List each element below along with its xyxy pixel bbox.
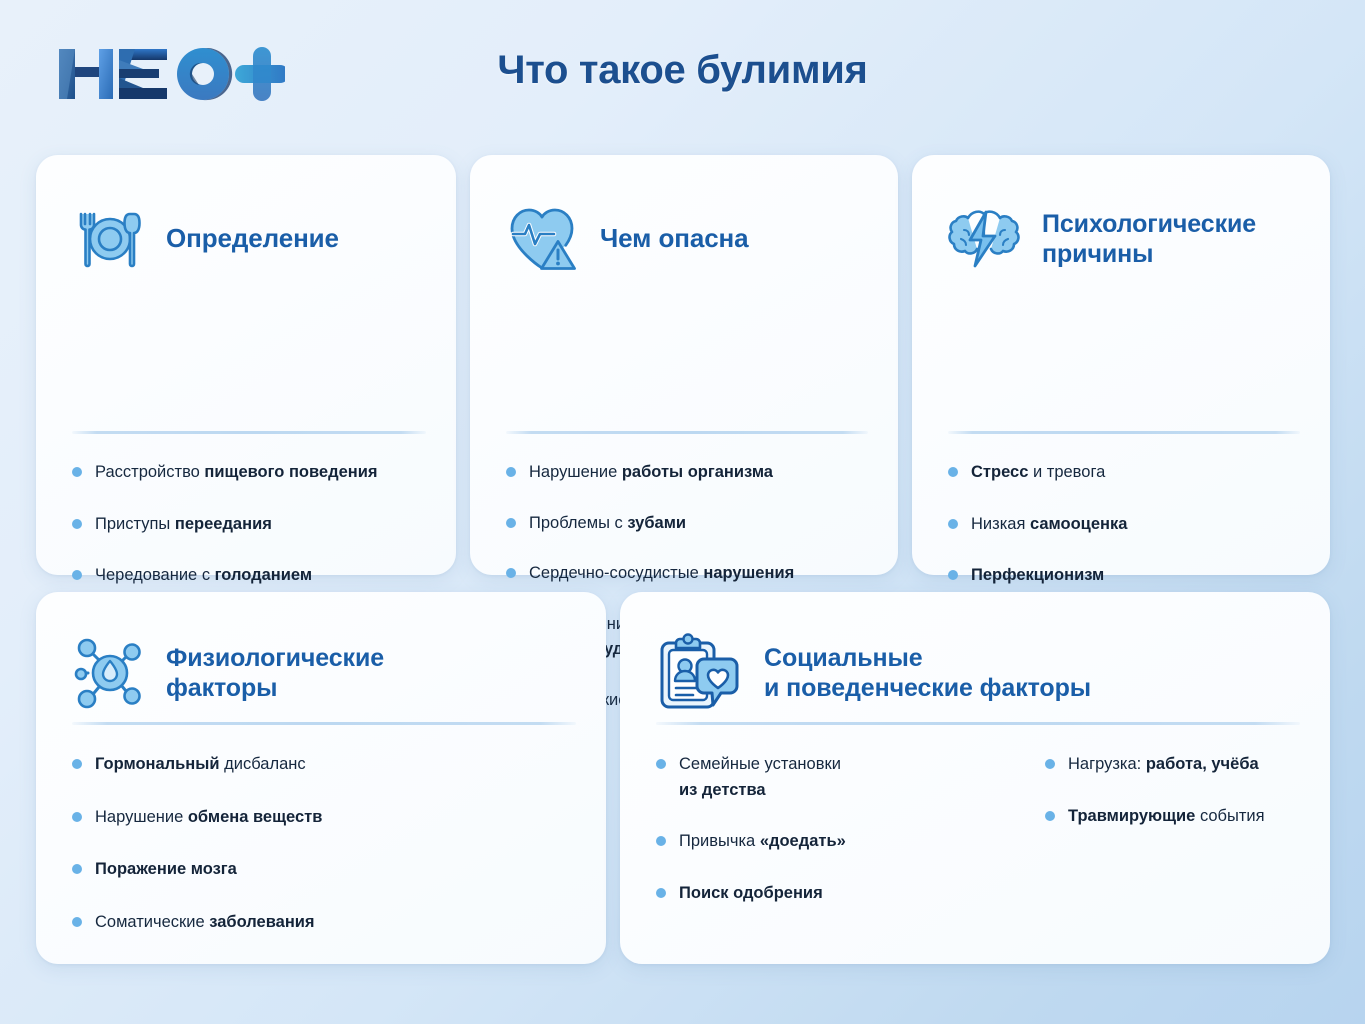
list-item: Гормональный дисбаланс [72, 752, 590, 778]
card-physiological-factors: Физиологическиефакторы Гормональный дисб… [36, 592, 606, 964]
list-item-text: Поиск одобрения [679, 881, 823, 907]
divider [72, 722, 576, 725]
brain-lightning-icon [948, 202, 1022, 276]
infographic-page: Что такое булимия Определение Расстройст… [0, 0, 1365, 1024]
bullet-dot [72, 812, 82, 822]
list-item: Соматические заболевания [72, 910, 590, 936]
list-item-text: Нарушение обмена веществ [95, 805, 322, 831]
bullet-dot [72, 917, 82, 927]
list-item-text: Травмирующие события [1068, 804, 1265, 830]
bullet-list: Гормональный дисбалансНарушение обмена в… [72, 752, 590, 962]
divider [656, 722, 1300, 725]
list-item-text: Расстройство пищевого поведения [95, 460, 378, 486]
card-title: Социальныеи поведенческие факторы [764, 643, 1091, 704]
bullet-dot [72, 467, 82, 477]
plate-fork-knife-icon [72, 202, 146, 276]
list-item-text: Поражение мозга [95, 857, 237, 883]
list-item-text: Низкая самооценка [971, 512, 1127, 538]
card-title: Чем опасна [600, 223, 749, 255]
bullet-dot [656, 888, 666, 898]
list-item-text: Семейные установкииз детства [679, 752, 841, 803]
list-item: Сердечно-сосудистые нарушения [506, 561, 882, 587]
list-item: Поражение мозга [72, 857, 590, 883]
card-title: Физиологическиефакторы [166, 643, 384, 704]
list-item-text: Гормональный дисбаланс [95, 752, 306, 778]
hormone-molecule-icon [72, 636, 146, 710]
list-item-text: Чередование с голоданием [95, 563, 312, 589]
list-item-text: Привычка «доедать» [679, 829, 846, 855]
bullet-dot [72, 759, 82, 769]
card-header: Физиологическиефакторы [72, 626, 578, 720]
list-item: Нарушение обмена веществ [72, 805, 590, 831]
card-title: Определение [166, 223, 339, 255]
list-item: Нарушение работы организма [506, 460, 882, 486]
bullet-dot [948, 467, 958, 477]
bullet-dot [948, 519, 958, 529]
list-item: Стресс и тревога [948, 460, 1314, 486]
list-item: Привычка «доедать» [656, 829, 1001, 855]
card-header: Социальныеи поведенческие факторы [656, 626, 1302, 720]
page-title: Что такое булимия [0, 48, 1365, 93]
divider [72, 431, 426, 434]
bullet-dot [656, 759, 666, 769]
bullet-dot [1045, 759, 1055, 769]
list-item: Травмирующие события [1045, 804, 1335, 830]
bullet-dot [656, 836, 666, 846]
heart-pulse-warning-icon [506, 202, 580, 276]
list-item-text: Нагрузка: работа, учёба [1068, 752, 1259, 778]
bullet-dot [1045, 811, 1055, 821]
bullet-dot [506, 467, 516, 477]
header: Что такое булимия [0, 0, 1365, 140]
list-item-text: Сердечно-сосудистые нарушения [529, 561, 794, 587]
list-item: Нагрузка: работа, учёба [1045, 752, 1335, 778]
list-item-text: Перфекционизм [971, 563, 1104, 589]
bullet-dot [72, 519, 82, 529]
list-item-text: Нарушение работы организма [529, 460, 773, 486]
bullet-dot [72, 570, 82, 580]
card-header: Определение [72, 197, 428, 281]
list-item: Расстройство пищевого поведения [72, 460, 436, 486]
bullet-list-right: Нагрузка: работа, учёбаТравмирующие собы… [1045, 752, 1335, 932]
clipboard-person-heart-icon [656, 632, 744, 714]
bullet-dot [72, 864, 82, 874]
list-item: Проблемы с зубами [506, 511, 882, 537]
card-dangers: Чем опасна Нарушение работы организмаПро… [470, 155, 898, 575]
list-item: Перфекционизм [948, 563, 1314, 589]
divider [506, 431, 868, 434]
bullet-dot [948, 570, 958, 580]
list-item: Семейные установкииз детства [656, 752, 1001, 803]
card-title: Психологическиепричины [1042, 209, 1256, 270]
list-item-text: Приступы переедания [95, 512, 272, 538]
card-definition: Определение Расстройство пищевого поведе… [36, 155, 456, 575]
card-header: Психологическиепричины [948, 197, 1302, 281]
divider [948, 431, 1300, 434]
bullet-dot [506, 568, 516, 578]
card-social-behavioral-factors: Социальныеи поведенческие факторы Семейн… [620, 592, 1330, 964]
bullet-columns: Семейные установкииз детстваПривычка «до… [656, 752, 1310, 932]
list-item: Чередование с голоданием [72, 563, 436, 589]
card-psychological-causes: Психологическиепричины Стресс и тревогаН… [912, 155, 1330, 575]
card-header: Чем опасна [506, 197, 870, 281]
list-item: Поиск одобрения [656, 881, 1001, 907]
bullet-dot [506, 518, 516, 528]
list-item: Приступы переедания [72, 512, 436, 538]
list-item-text: Проблемы с зубами [529, 511, 686, 537]
bullet-list-left: Семейные установкииз детстваПривычка «до… [656, 752, 1001, 932]
list-item-text: Соматические заболевания [95, 910, 315, 936]
list-item: Низкая самооценка [948, 512, 1314, 538]
list-item-text: Стресс и тревога [971, 460, 1105, 486]
